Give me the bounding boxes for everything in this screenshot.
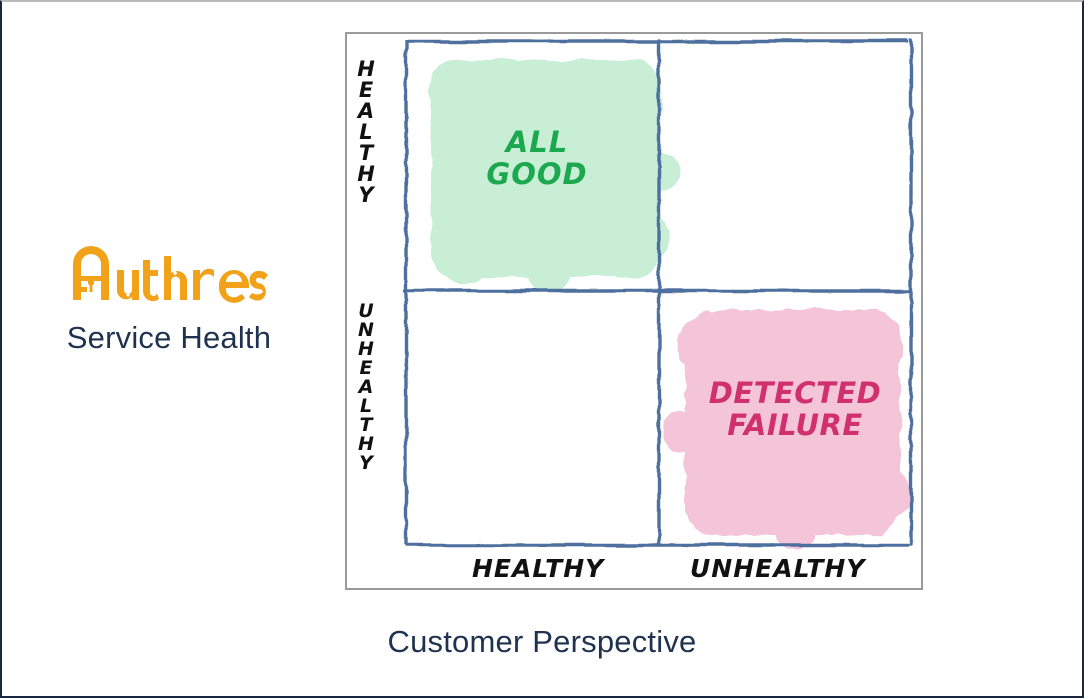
authress-keyhole-logo-icon xyxy=(69,242,269,304)
brand-block: Service Health xyxy=(24,242,314,356)
x-axis-label-healthy: HEALTHY xyxy=(472,554,604,583)
x-axis-label-unhealthy: UNHEALTHY xyxy=(690,554,865,583)
authress-logo xyxy=(24,242,314,304)
quadrant-label-detected-failure: DETECTED FAILURE xyxy=(670,377,920,442)
y-axis-letter: H xyxy=(349,59,383,80)
y-axis-label-healthy: H E A L T H Y xyxy=(349,59,383,206)
brand-subtitle: Service Health xyxy=(24,320,314,356)
y-axis-letter: H xyxy=(349,164,383,185)
quadrant-label-all-good: ALL GOOD xyxy=(442,126,632,191)
x-axis-title: Customer Perspective xyxy=(2,624,1082,660)
slide-canvas: Service Health xyxy=(2,2,1082,696)
y-axis-letter: A xyxy=(349,101,383,122)
y-axis-letter: Y xyxy=(349,185,383,206)
y-axis-letter: E xyxy=(349,80,383,101)
y-axis-label-unhealthy: U N H E A L T H Y xyxy=(349,302,383,473)
y-axis-letter: L xyxy=(349,122,383,143)
matrix-outer-frame xyxy=(345,32,923,590)
y-axis-letter: T xyxy=(349,143,383,164)
y-axis-letter: Y xyxy=(349,454,383,473)
